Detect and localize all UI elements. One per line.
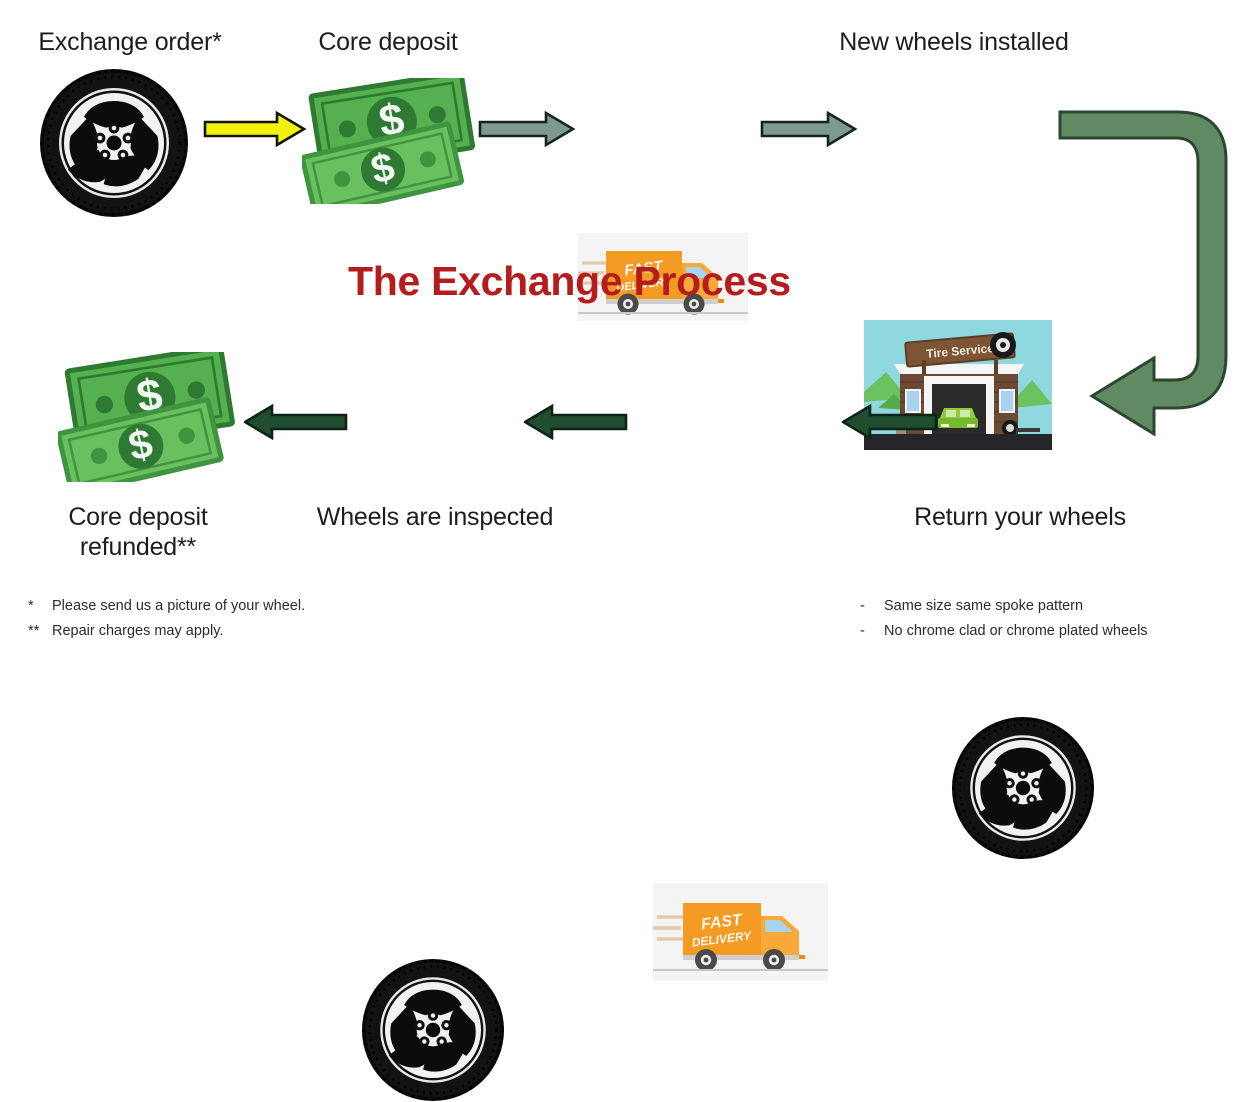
wheel-tire-icon-bottom-center xyxy=(360,958,1250,1102)
label-return-your-wheels: Return your wheels xyxy=(890,503,1150,533)
arrow-right-icon-2 xyxy=(478,110,576,148)
arrow-curved-down-left-icon xyxy=(1058,104,1248,456)
footnote-row: - No chrome clad or chrome plated wheels xyxy=(860,619,1148,644)
label-core-deposit-refunded-line2: refunded** xyxy=(80,533,196,561)
wheel-tire-icon-bottom-right xyxy=(950,716,1250,860)
exchange-process-diagram: Exchange order* Core deposit New wheels … xyxy=(0,0,1250,666)
cash-banknotes-icon-top: $ $ xyxy=(302,78,480,204)
footnote-text: Same size same spoke pattern xyxy=(884,594,1083,619)
footnote-row: * Please send us a picture of your wheel… xyxy=(28,594,305,619)
footnote-marker: * xyxy=(28,594,52,619)
arrow-right-icon-1 xyxy=(203,110,307,148)
footnote-text: Please send us a picture of your wheel. xyxy=(52,594,305,619)
label-core-deposit-refunded: Core depositrefunded** xyxy=(38,503,238,562)
footnote-text: No chrome clad or chrome plated wheels xyxy=(884,619,1148,644)
label-core-deposit: Core deposit xyxy=(288,28,488,58)
arrow-left-icon-3 xyxy=(244,403,348,441)
label-wheels-are-inspected: Wheels are inspected xyxy=(305,503,565,533)
footnote-marker: - xyxy=(860,594,884,619)
label-core-deposit-refunded-line1: Core deposit xyxy=(68,503,207,531)
footnote-marker: - xyxy=(860,619,884,644)
label-exchange-order: Exchange order* xyxy=(12,28,248,58)
footnote-row: ** Repair charges may apply. xyxy=(28,619,305,644)
footnotes-right: - Same size same spoke pattern - No chro… xyxy=(860,594,1148,644)
arrow-left-icon-1 xyxy=(842,403,938,441)
cash-banknotes-icon-bottom: $ $ xyxy=(58,352,240,482)
page-title: The Exchange Process xyxy=(348,258,791,305)
arrow-left-icon-2 xyxy=(524,403,628,441)
footnote-row: - Same size same spoke pattern xyxy=(860,594,1148,619)
footnote-marker: ** xyxy=(28,619,52,644)
footnotes-left: * Please send us a picture of your wheel… xyxy=(28,594,305,644)
arrow-right-icon-3 xyxy=(760,110,858,148)
footnote-text: Repair charges may apply. xyxy=(52,619,223,644)
label-new-wheels-installed: New wheels installed xyxy=(808,28,1100,58)
